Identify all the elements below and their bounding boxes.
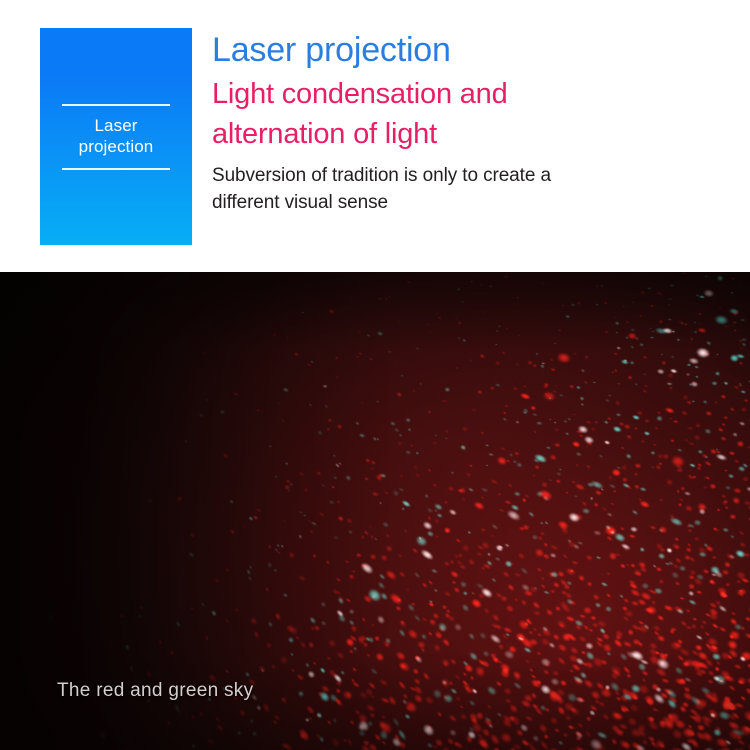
body-copy-line-2: different visual sense xyxy=(212,189,732,216)
page-title: Laser projection xyxy=(212,30,732,70)
badge-label: Laserprojection xyxy=(57,106,175,168)
badge-label-line1: Laser xyxy=(94,116,137,135)
badge-label-line2: projection xyxy=(79,137,154,156)
subtitle: Light condensation and alternation of li… xyxy=(212,74,732,154)
header-section: Laserprojection Laser projection Light c… xyxy=(0,0,750,272)
badge-rule-bottom xyxy=(62,168,170,170)
subtitle-line-1: Light condensation and xyxy=(212,74,732,114)
product-banner: Laserprojection Laser projection Light c… xyxy=(0,0,750,750)
headline-block: Laser projection Light condensation and … xyxy=(212,30,732,216)
subtitle-line-2: alternation of light xyxy=(212,114,732,154)
body-copy-line-1: Subversion of tradition is only to creat… xyxy=(212,162,732,189)
body-copy: Subversion of tradition is only to creat… xyxy=(212,162,732,216)
photo-caption: The red and green sky xyxy=(57,679,253,703)
laser-projection-badge: Laserprojection xyxy=(40,28,192,245)
